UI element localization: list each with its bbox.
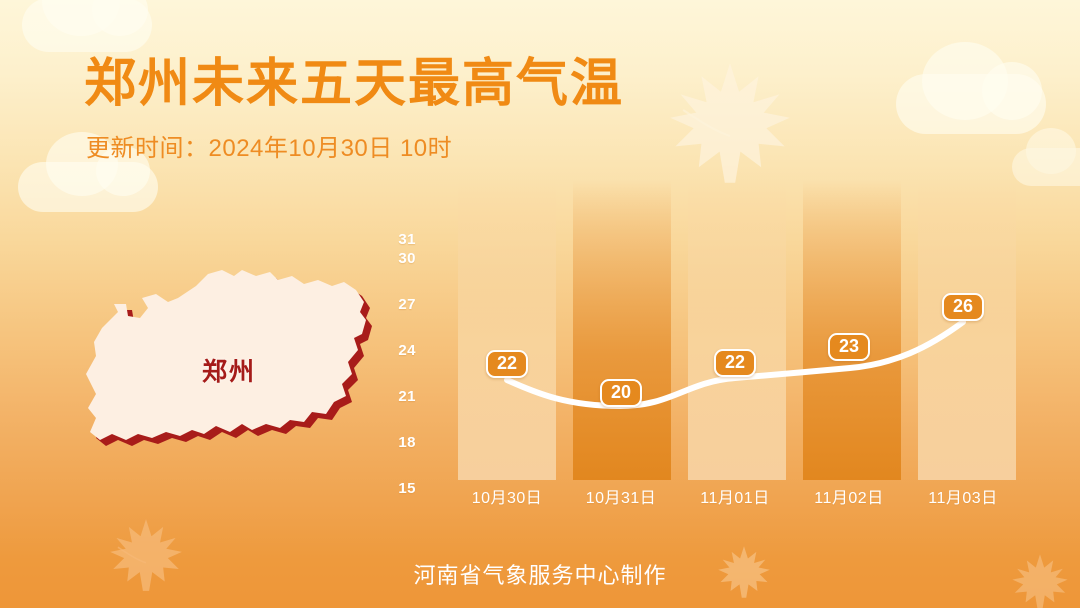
data-point-badge: 22 [714, 349, 756, 377]
x-axis-tick: 10月31日 [561, 484, 681, 508]
y-axis-tick: 21 [376, 388, 416, 405]
x-axis-tick: 11月01日 [675, 484, 795, 508]
data-point-badge: 26 [942, 293, 984, 321]
temperature-line [418, 180, 1058, 480]
data-point-badge: 22 [486, 350, 528, 378]
y-axis-tick: 30 [376, 250, 416, 267]
cloud-bottom-right-icon [1012, 128, 1080, 186]
cloud-top-right-icon [896, 42, 1046, 134]
cloud-top-left-icon [22, 0, 152, 52]
temperature-chart: 31 30 27 24 21 18 15 22 20 22 23 26 10月3… [418, 180, 1058, 510]
update-time-label: 更新时间：2024年10月30日 10时 [86, 128, 452, 163]
maple-leaf-top-center-icon [660, 58, 800, 188]
city-label: 郑州 [202, 352, 256, 388]
y-axis-tick: 15 [376, 480, 416, 497]
data-point-badge: 23 [828, 333, 870, 361]
data-point-badge: 20 [600, 379, 642, 407]
y-axis-tick: 31 [376, 231, 416, 248]
y-axis-tick: 27 [376, 296, 416, 313]
page-title: 郑州未来五天最高气温 [84, 58, 624, 110]
weather-forecast-poster: 郑州未来五天最高气温 更新时间：2024年10月30日 10时 郑州 31 30… [0, 0, 1080, 608]
x-axis-tick: 10月30日 [447, 484, 567, 508]
footer-credit: 河南省气象服务中心制作 [0, 558, 1080, 590]
x-axis-tick: 11月03日 [903, 484, 1023, 508]
x-axis-tick: 11月02日 [789, 484, 909, 508]
y-axis-tick: 24 [376, 342, 416, 359]
y-axis-tick: 18 [376, 434, 416, 451]
